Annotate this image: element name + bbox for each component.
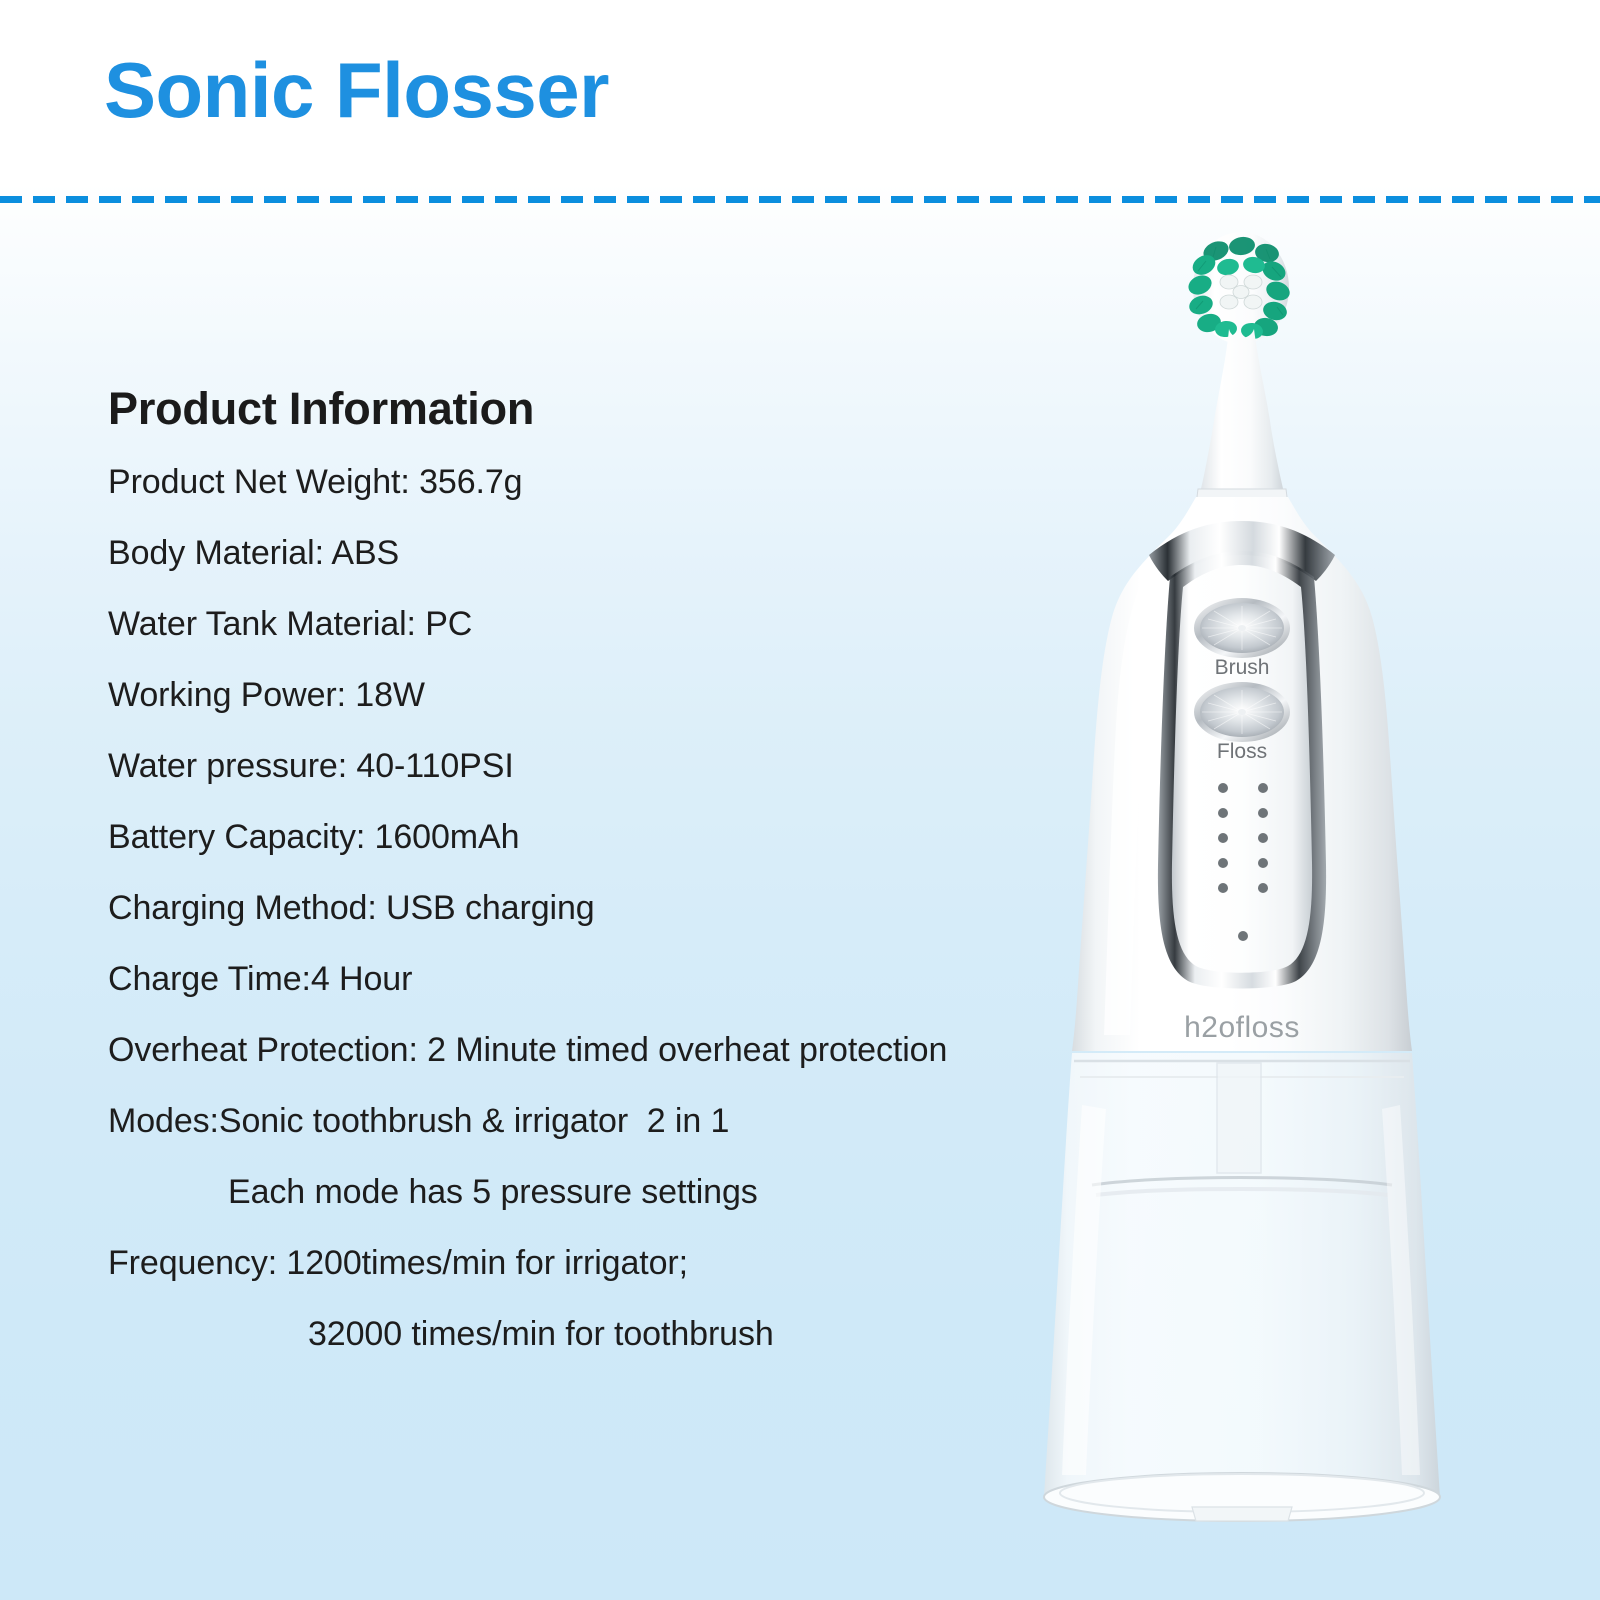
product-information-block: Product Information Product Net Weight: … [108, 386, 1068, 1388]
floss-mode-button[interactable] [1194, 682, 1290, 742]
product-image: Brush Floss [1020, 225, 1480, 1545]
brush-head-bristles [1185, 232, 1292, 344]
spec-line-battery-capacity: Battery Capacity: 1600mAh [108, 820, 1068, 858]
product-info-page: Sonic Flosser Product Information Produc… [0, 0, 1600, 1600]
spec-line-pressure-settings: Each mode has 5 pressure settings [108, 1175, 1068, 1213]
spec-line-working-power: Working Power: 18W [108, 678, 1068, 716]
brush-mode-button[interactable] [1194, 598, 1290, 658]
spec-line-body-material: Body Material: ABS [108, 536, 1068, 574]
spec-line-charging-method: Charging Method: USB charging [108, 891, 1068, 929]
page-title: Sonic Flosser [104, 48, 609, 134]
brush-head-stem [1200, 329, 1284, 493]
spec-line-net-weight: Product Net Weight: 356.7g [108, 465, 1068, 503]
spec-line-frequency-toothbrush: 32000 times/min for toothbrush [108, 1317, 1068, 1355]
spec-line-water-pressure: Water pressure: 40-110PSI [108, 749, 1068, 787]
floss-button-label: Floss [1217, 740, 1267, 763]
tank-base-tab [1192, 1507, 1292, 1521]
spec-line-frequency-irrigator: Frequency: 1200times/min for irrigator; [108, 1246, 1068, 1284]
spec-line-charge-time: Charge Time:4 Hour [108, 962, 1068, 1000]
spec-line-tank-material: Water Tank Material: PC [108, 607, 1068, 645]
brand-logo: h2ofloss [1184, 1011, 1300, 1044]
tank-internal-tube [1217, 1063, 1261, 1173]
battery-indicator-light [1238, 931, 1248, 941]
spec-line-modes: Modes:Sonic toothbrush & irrigator 2 in … [108, 1104, 1068, 1142]
dashed-divider [0, 196, 1600, 203]
brush-button-label: Brush [1215, 656, 1270, 679]
section-heading: Product Information [108, 386, 1068, 431]
spec-line-overheat-protection: Overheat Protection: 2 Minute timed over… [108, 1033, 1068, 1071]
